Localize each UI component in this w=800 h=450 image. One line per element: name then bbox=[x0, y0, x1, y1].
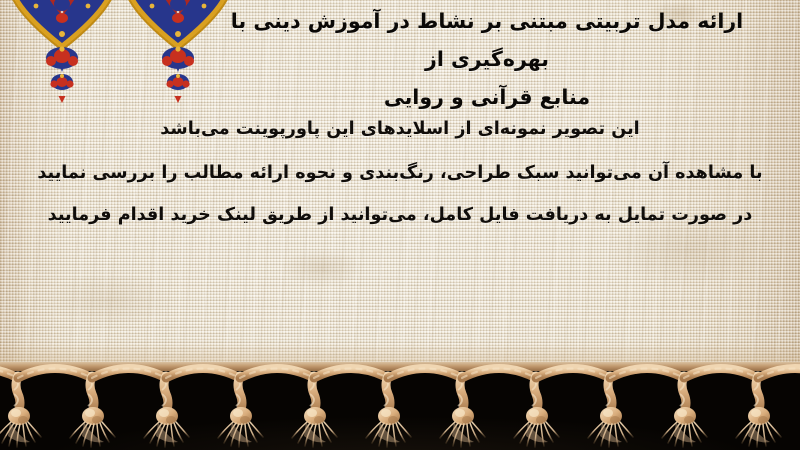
body-line-1: این تصویر نمونه‌ای از اسلایدهای این پاور… bbox=[14, 108, 786, 150]
body-line-3: در صورت تمایل به دریافت فایل کامل، می‌تو… bbox=[14, 194, 786, 236]
slide-body-text: این تصویر نمونه‌ای از اسلایدهای این پاور… bbox=[0, 108, 800, 236]
tassel-fringe-border bbox=[0, 362, 800, 450]
body-line-2: با مشاهده آن می‌توانید سبک طراحی، رنگ‌بن… bbox=[14, 152, 786, 194]
tassel-fringe-icon bbox=[0, 362, 800, 450]
slide-canvas: ارائه مدل تربیتی مبتنی بر نشاط در آموزش … bbox=[0, 0, 800, 450]
slide-title: ارائه مدل تربیتی مبتنی بر نشاط در آموزش … bbox=[0, 2, 800, 116]
